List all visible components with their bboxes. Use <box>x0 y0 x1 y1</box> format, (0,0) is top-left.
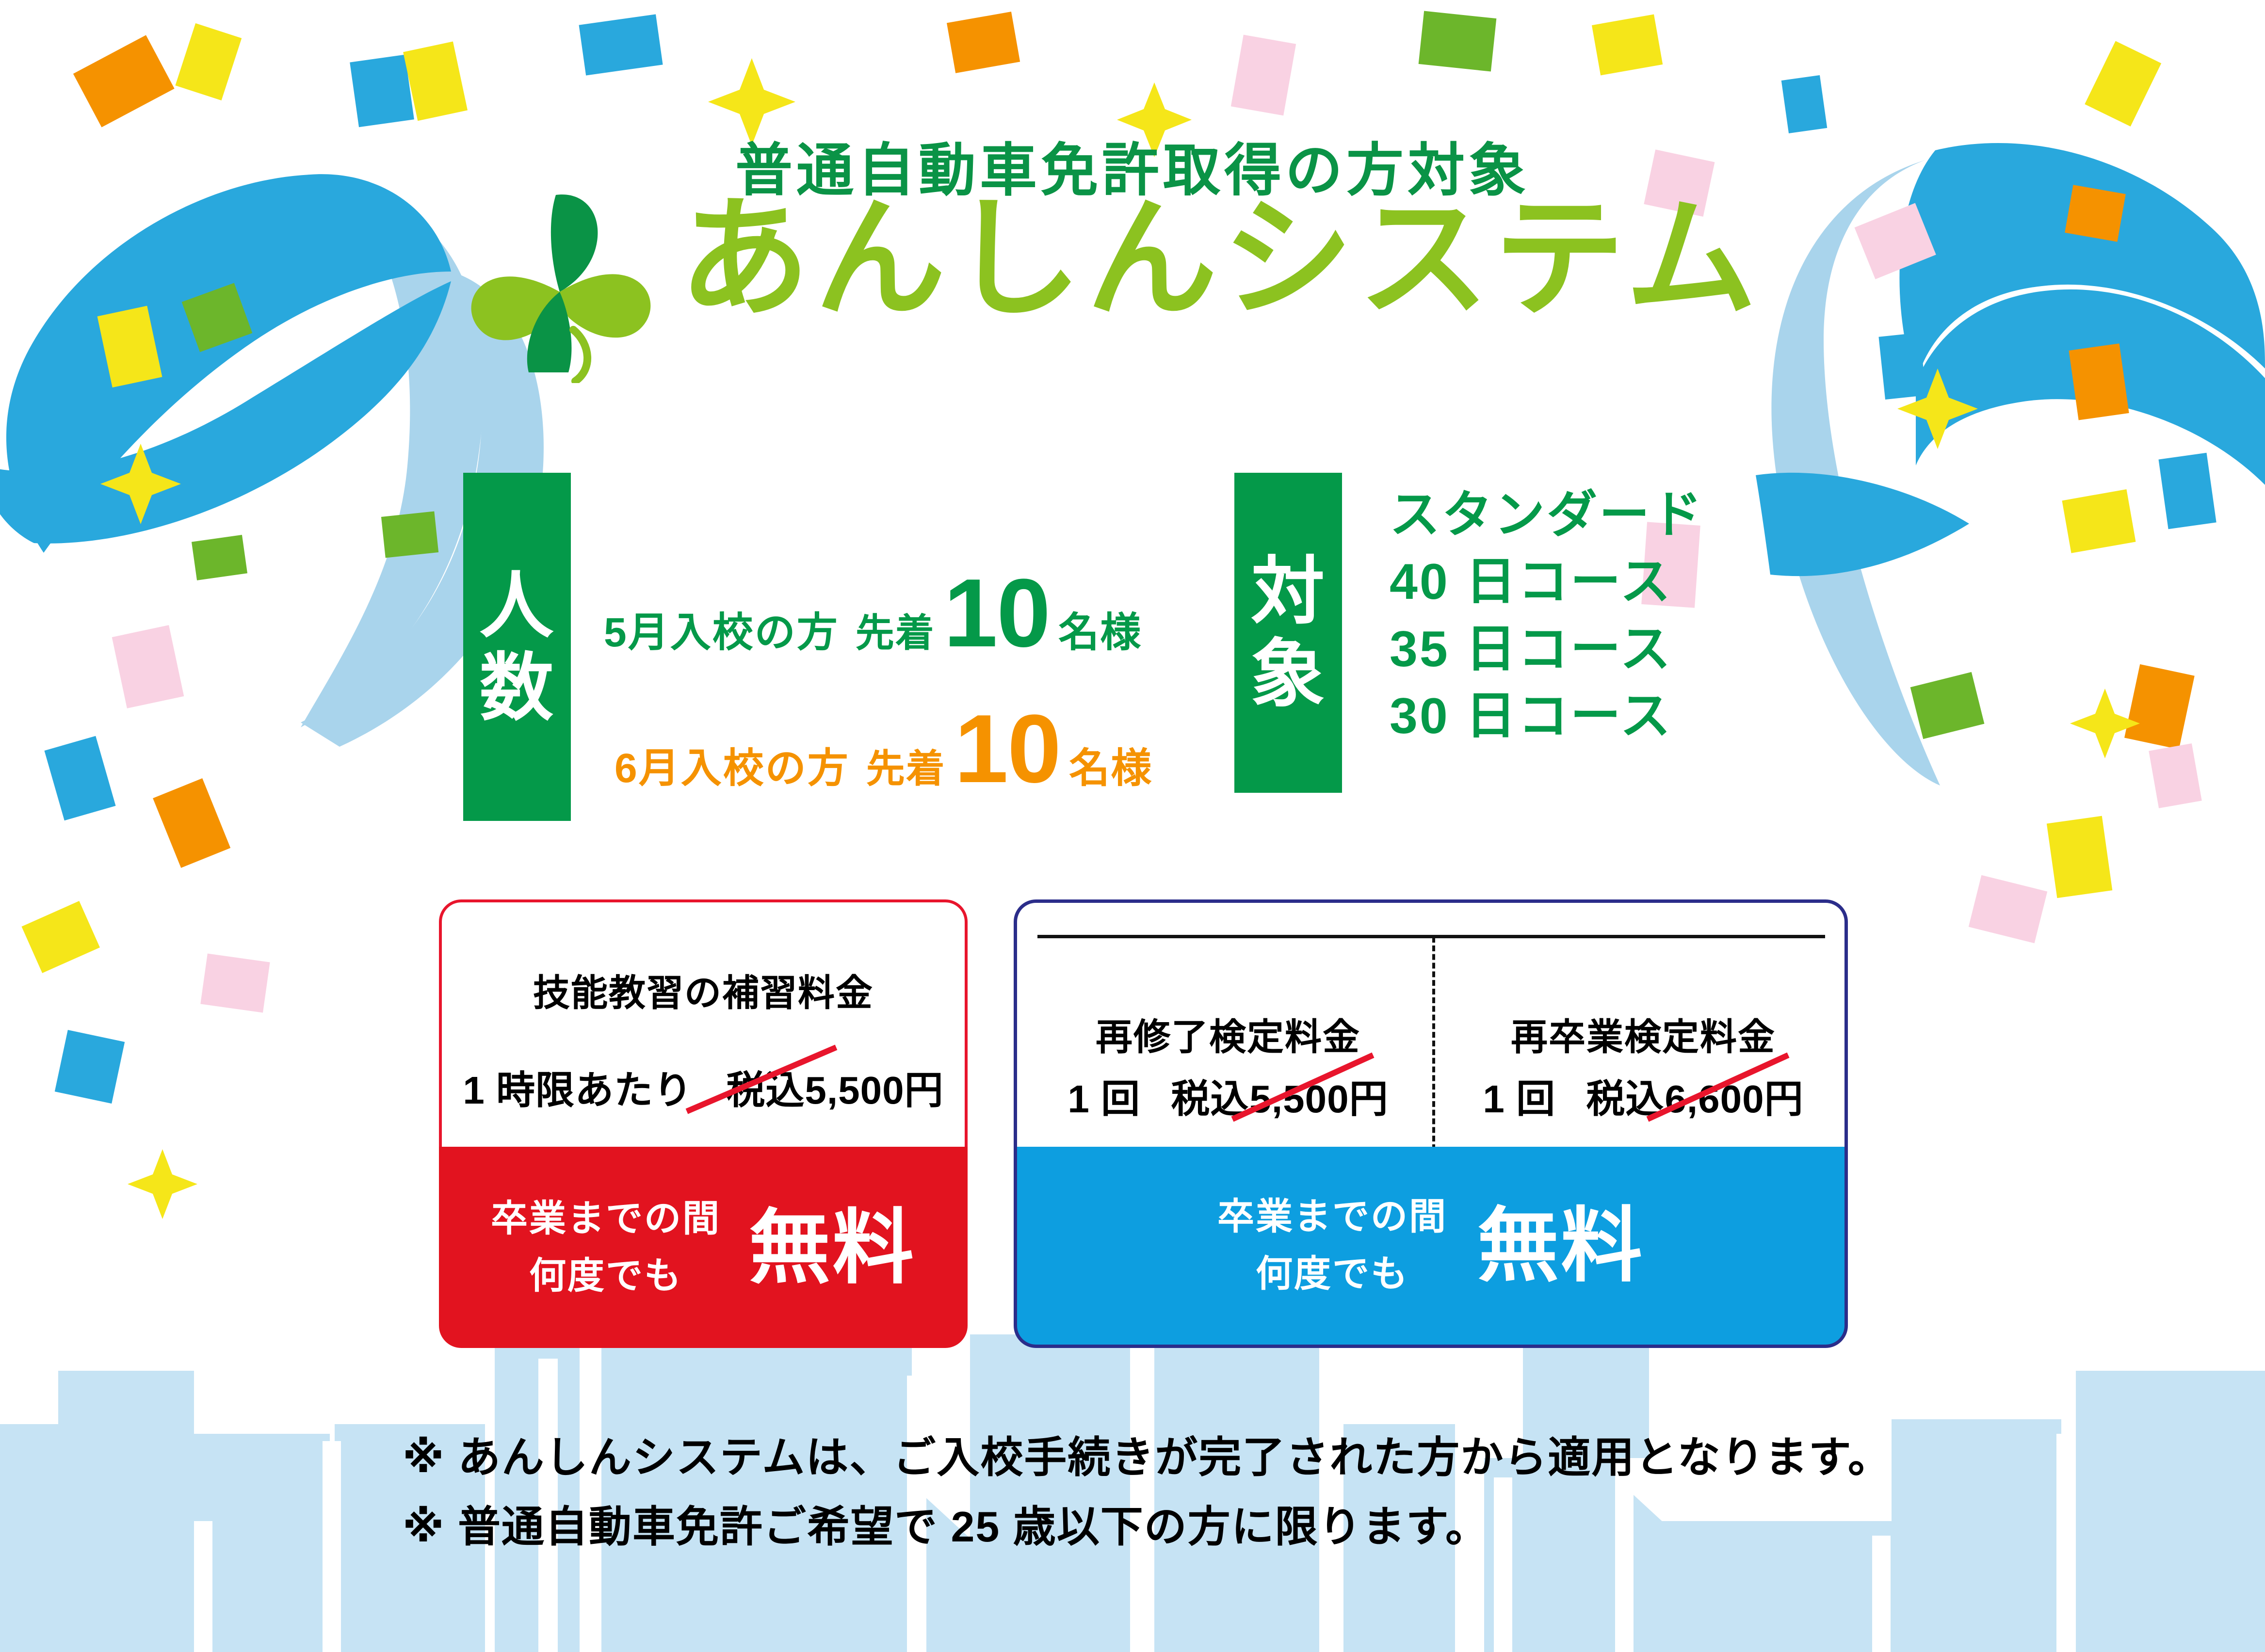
retest-price-top: 再修了検定料金 1 回 税込5,500円 再卒業検定料金 1 回 <box>1014 899 1848 1147</box>
eligibility-label-char-1: 対 <box>1251 550 1326 633</box>
capacity-unit-june: 名様 <box>1069 736 1152 794</box>
retest-right-price: 1 回 税込6,600円 <box>1483 1068 1803 1124</box>
makeup-lesson-price-top: 技能教習の補習料金 1 時限あたり 税込5,500円 <box>439 899 968 1147</box>
retest-right-title: 再卒業検定料金 <box>1435 1007 1851 1060</box>
makeup-price-prefix: 1 時限あたり <box>463 1069 693 1112</box>
capacity-rows: 5月入校の方 先着 10 名様 6月入校の方 先着 10 名様 <box>604 478 1205 827</box>
retest-right-prefix: 1 回 <box>1483 1077 1555 1121</box>
poster-canvas: 普通自動車免許取得の方対象 あんしんシステム 人 数 5月入校の方 先着 10 … <box>0 0 2265 1652</box>
retest-left-title: 再修了検定料金 <box>1020 1007 1436 1060</box>
makeup-free-line1: 卒業までの間 <box>491 1190 721 1248</box>
capacity-label-char-1: 人 <box>480 564 554 647</box>
makeup-lesson-title: 技能教習の補習料金 <box>442 963 965 1016</box>
retest-left-value: 5,500 <box>1249 1077 1349 1121</box>
capacity-when-may: 5月入校の方 <box>604 600 839 658</box>
eligibility-label: 対 象 <box>1234 473 1342 793</box>
retest-free-big: 無料 <box>1477 1205 1644 1286</box>
makeup-free-big: 無料 <box>749 1207 916 1288</box>
footnote-1: ※ あんしんシステムは、ご入校手続きが完了された方から適用となります。 <box>403 1423 2149 1492</box>
capacity-firstcome-june: 先着 <box>866 738 946 794</box>
capacity-row-june: 6月入校の方 先着 10 名様 <box>615 706 1152 794</box>
retest-right-value: 6,600 <box>1665 1077 1764 1121</box>
retest-left-prefix: 1 回 <box>1068 1077 1140 1121</box>
makeup-free-text: 卒業までの間 何度でも <box>491 1190 721 1305</box>
footnote-2: ※ 普通自動車免許ご希望で 25 歳以下の方に限ります。 <box>403 1492 2149 1562</box>
retest-free-line1: 卒業までの間 <box>1217 1188 1447 1246</box>
retest-free-text: 卒業までの間 何度でも <box>1217 1188 1447 1303</box>
footnotes: ※ あんしんシステムは、ご入校手続きが完了された方から適用となります。 ※ 普通… <box>403 1423 2149 1561</box>
info-band: 人 数 5月入校の方 先着 10 名様 6月入校の方 先着 10 名様 対 象 … <box>0 473 2265 832</box>
course-item-40day: 40 日コース <box>1390 548 1875 615</box>
retest-price-card: 再修了検定料金 1 回 税込5,500円 再卒業検定料金 1 回 <box>1014 899 1848 1348</box>
retest-left-tax: 税込 <box>1171 1077 1249 1121</box>
makeup-price-tax: 税込 <box>726 1069 805 1112</box>
capacity-label: 人 数 <box>463 473 571 821</box>
retest-free-line2: 何度でも <box>1217 1246 1447 1303</box>
makeup-free-line2: 何度でも <box>491 1248 721 1305</box>
retest-right-tax: 税込 <box>1586 1077 1665 1121</box>
makeup-lesson-price: 1 時限あたり 税込5,500円 <box>463 1059 943 1115</box>
makeup-price-yen: 円 <box>905 1069 944 1112</box>
retest-column-left: 再修了検定料金 1 回 税込5,500円 <box>1020 903 1436 1150</box>
course-item-30day: 30 日コース <box>1390 683 1875 750</box>
capacity-label-char-2: 数 <box>480 647 554 729</box>
makeup-lesson-free-banner: 卒業までの間 何度でも 無料 <box>439 1147 968 1348</box>
capacity-count-may: 10 <box>944 570 1050 657</box>
retest-left-price: 1 回 税込5,500円 <box>1068 1068 1388 1124</box>
retest-free-banner: 卒業までの間 何度でも 無料 <box>1014 1147 1848 1348</box>
four-leaf-clover-icon <box>461 189 669 383</box>
eligibility-label-char-2: 象 <box>1251 633 1326 715</box>
eligibility-course-list: スタンダード 40 日コース 35 日コース 30 日コース <box>1390 481 1875 750</box>
makeup-lesson-price-card: 技能教習の補習料金 1 時限あたり 税込5,500円 卒業までの間 何度でも 無… <box>439 899 968 1348</box>
capacity-unit-may: 名様 <box>1058 600 1142 658</box>
retest-right-yen: 円 <box>1764 1077 1804 1121</box>
retest-column-right: 再卒業検定料金 1 回 税込6,600円 <box>1435 903 1851 1150</box>
capacity-count-june: 10 <box>955 706 1060 793</box>
makeup-price-value: 5,500 <box>805 1069 904 1112</box>
capacity-row-may: 5月入校の方 先着 10 名様 <box>604 570 1142 658</box>
course-item-standard: スタンダード <box>1390 481 1875 548</box>
capacity-firstcome-may: 先着 <box>856 602 935 658</box>
capacity-when-june: 6月入校の方 <box>615 736 850 794</box>
course-item-35day: 35 日コース <box>1390 616 1875 683</box>
retest-left-yen: 円 <box>1349 1077 1389 1121</box>
page-title: あんしんシステム <box>679 194 1762 325</box>
